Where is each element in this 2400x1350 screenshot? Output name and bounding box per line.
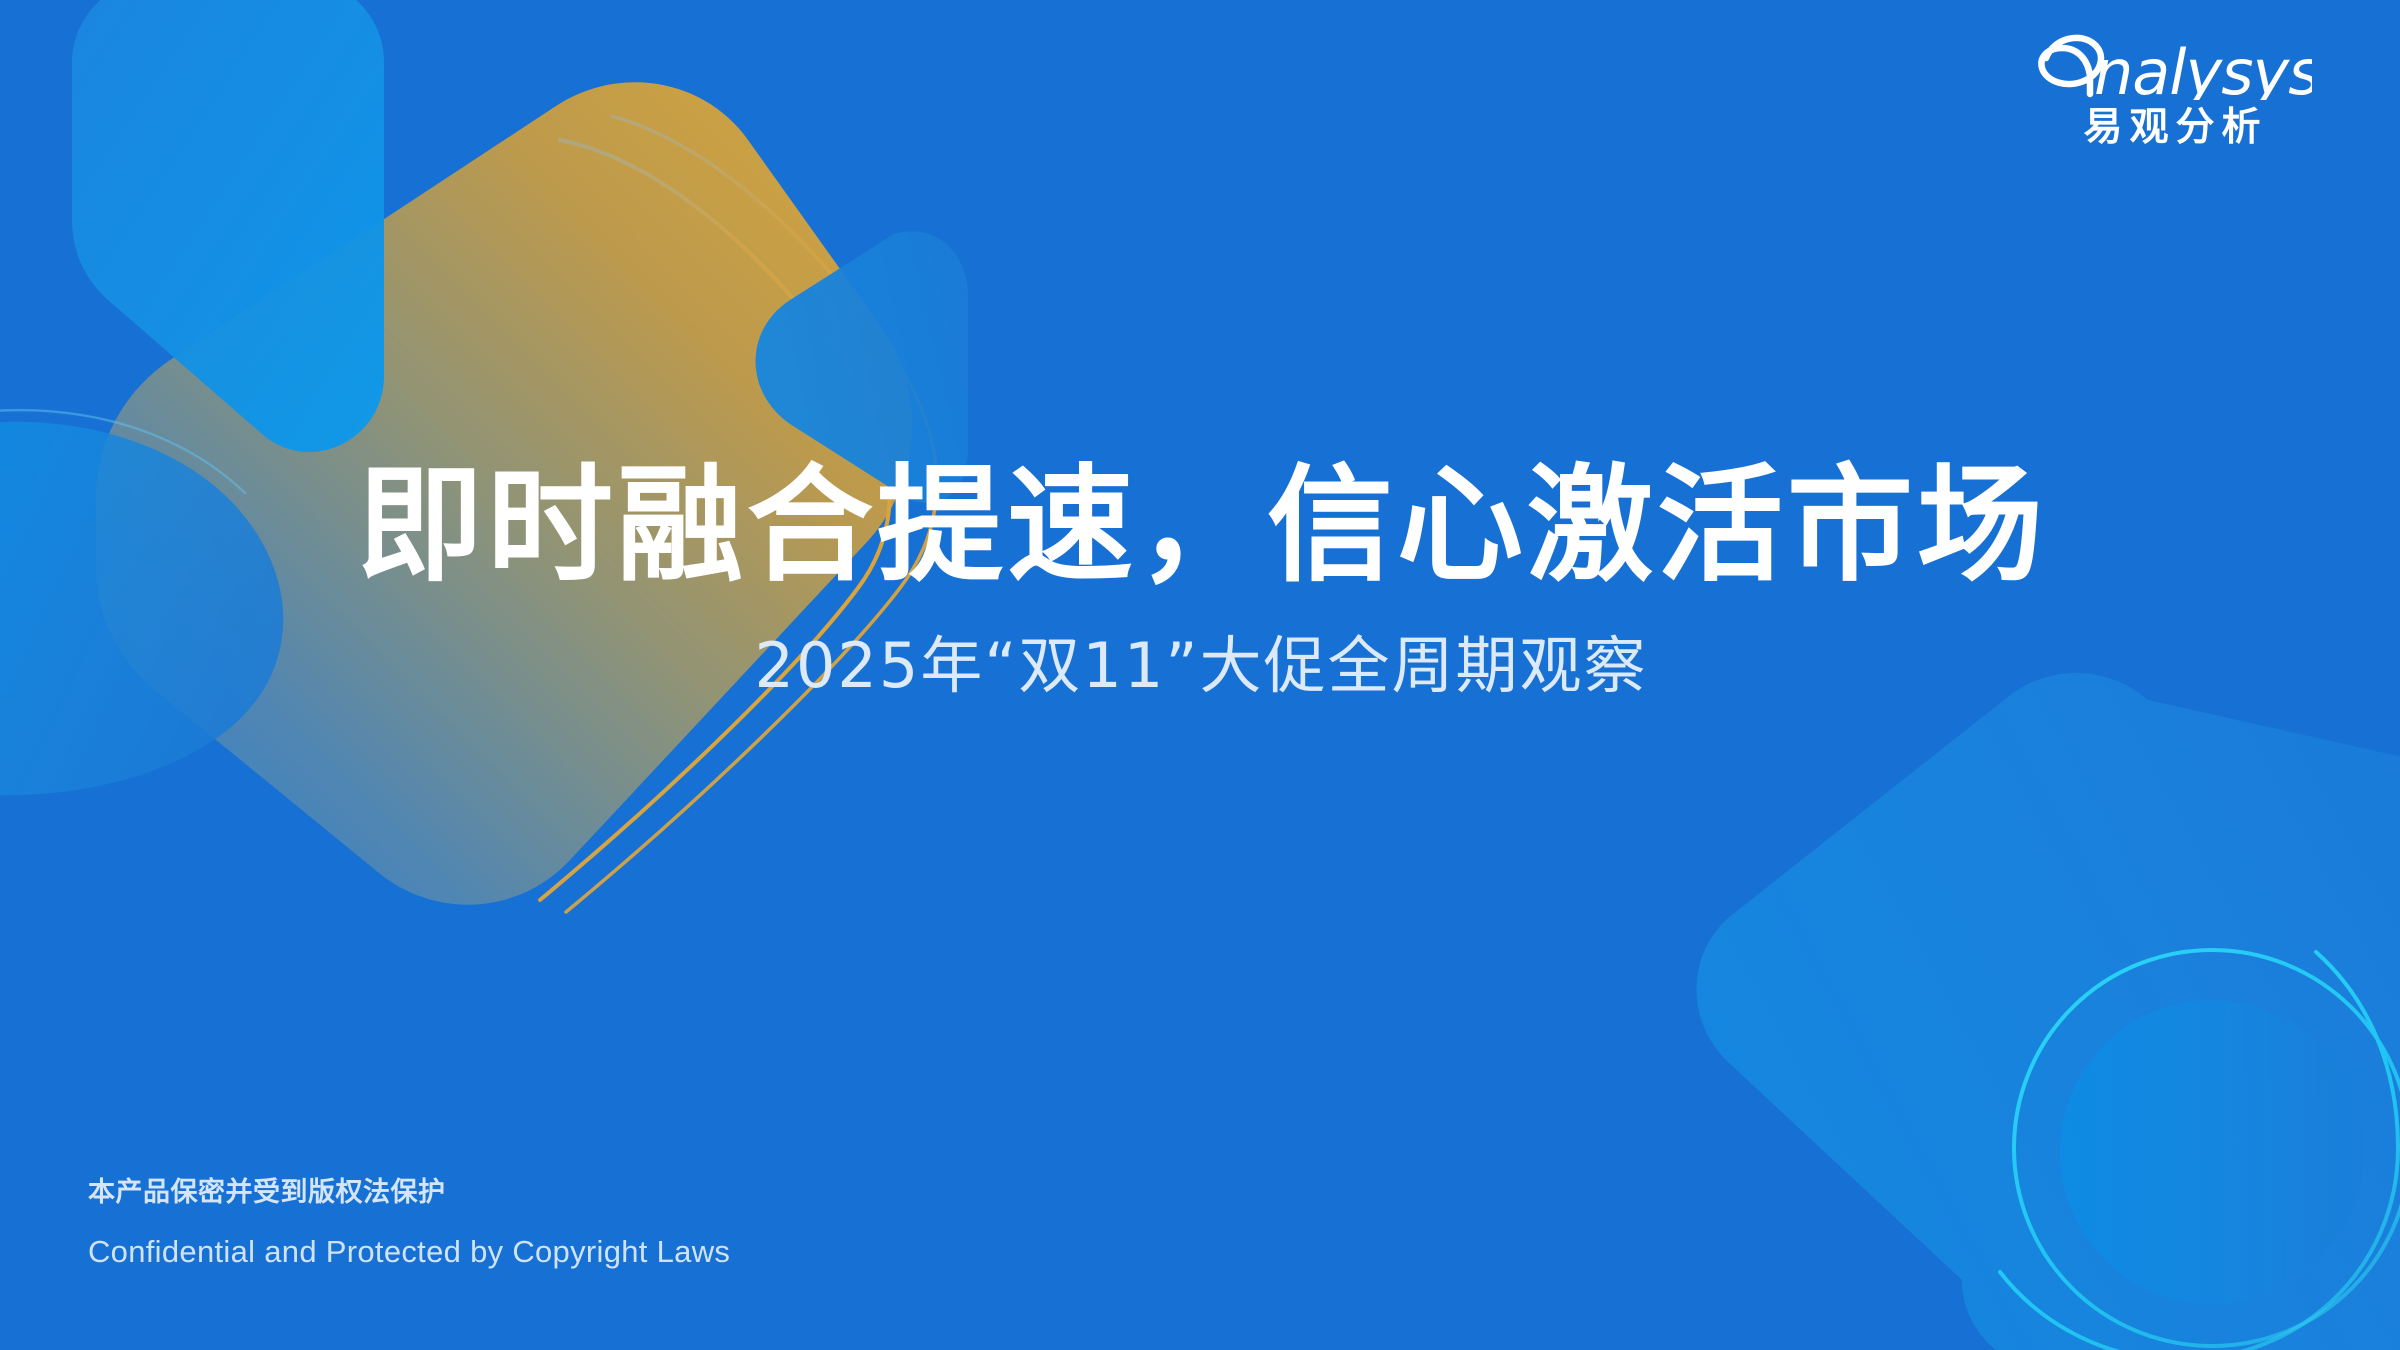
bottom-right-chevron xyxy=(1697,673,2400,1350)
analysys-logo: nalysys 易观分析 xyxy=(2022,28,2322,150)
bottom-right-cyan-ring-circle xyxy=(2014,950,2400,1346)
copyright-footer: 本产品保密并受到版权法保护 Confidential and Protected… xyxy=(88,1175,730,1272)
copyright-notice-chinese: 本产品保密并受到版权法保护 xyxy=(88,1175,730,1211)
bottom-right-cyan-ring xyxy=(2000,952,2398,1350)
bottom-right-circle xyxy=(2060,1000,2364,1304)
analysys-chinese-name: 易观分析 xyxy=(2022,107,2322,150)
title-block: 即时融合提速，信心激活市场 2025年“双11”大促全周期观察 xyxy=(0,452,2400,703)
copyright-notice-english: Confidential and Protected by Copyright … xyxy=(88,1232,730,1272)
analysys-loop-logo: nalysys xyxy=(2022,28,2322,105)
page-title: 即时融合提速，信心激活市场 xyxy=(0,452,2400,601)
title-slide: nalysys 易观分析 即时融合提速，信心激活市场 2025年“双11”大促全… xyxy=(0,0,2400,1350)
top-left-chevron xyxy=(72,0,384,452)
page-subtitle: 2025年“双11”大促全周期观察 xyxy=(0,629,2400,703)
svg-text:nalysys: nalysys xyxy=(2094,36,2312,100)
